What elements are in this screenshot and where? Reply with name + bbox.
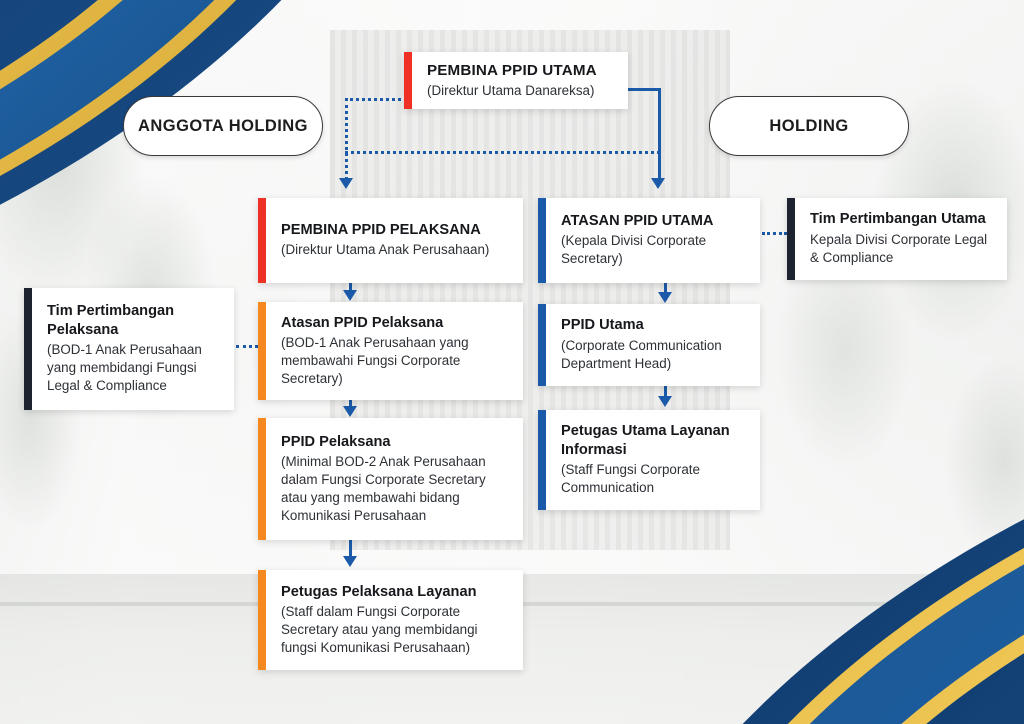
- pill-holding-label: HOLDING: [769, 117, 848, 136]
- arrow-ppid-pel-to-petugas-pel: [343, 556, 357, 567]
- arrow-atasan-utama-to-ppid-utama: [658, 292, 672, 303]
- arrow-right-branch: [651, 178, 665, 189]
- node-subtitle: (BOD-1 Anak Perusahaan yang membawahi Fu…: [281, 334, 510, 387]
- node-title: Atasan PPID Pelaksana: [281, 314, 510, 332]
- node-title: ATASAN PPID UTAMA: [561, 212, 747, 230]
- node-subtitle: (Staff Fungsi Corporate Communication: [561, 461, 747, 497]
- accent-bar-orange: [258, 302, 266, 400]
- node-title: Petugas Pelaksana Layanan: [281, 583, 510, 601]
- accent-bar-dark: [24, 288, 32, 410]
- connector-dotted-left-down: [345, 98, 348, 180]
- diagram-canvas: ANGGOTA HOLDING HOLDING PEMBINA PPID UTA…: [0, 0, 1024, 724]
- node-subtitle: (Kepala Divisi Corporate Secretary): [561, 232, 747, 268]
- node-tim-pertimbangan-pelaksana[interactable]: Tim Pertimbangan Pelaksana (BOD-1 Anak P…: [24, 288, 234, 410]
- accent-bar-orange: [258, 570, 266, 670]
- node-subtitle: (Minimal BOD-2 Anak Perusahaan dalam Fun…: [281, 453, 510, 524]
- node-petugas-pelaksana-layanan[interactable]: Petugas Pelaksana Layanan (Staff dalam F…: [258, 570, 523, 670]
- accent-bar-orange: [258, 418, 266, 540]
- accent-bar-red: [404, 52, 412, 109]
- arrow-pembina-to-atasan-pel: [343, 290, 357, 301]
- node-subtitle: (BOD-1 Anak Perusahaan yang membidangi F…: [47, 341, 221, 394]
- node-title: PPID Utama: [561, 316, 747, 334]
- pill-anggota-holding-label: ANGGOTA HOLDING: [138, 117, 308, 136]
- background-trees-left: [0, 0, 260, 560]
- arrow-atasan-to-ppid-pel: [343, 406, 357, 417]
- node-subtitle: (Staff dalam Fungsi Corporate Secretary …: [281, 603, 510, 656]
- accent-bar-red: [258, 198, 266, 283]
- arrow-ppid-utama-to-petugas-utama: [658, 396, 672, 407]
- pill-holding[interactable]: HOLDING: [709, 96, 909, 156]
- connector-dotted-bus: [345, 151, 660, 154]
- node-title: Petugas Utama Layanan Informasi: [561, 422, 747, 459]
- connector-right-down: [658, 88, 661, 180]
- node-title: Tim Pertimbangan Utama: [810, 210, 994, 228]
- node-atasan-ppid-utama[interactable]: ATASAN PPID UTAMA (Kepala Divisi Corpora…: [538, 198, 760, 283]
- node-ppid-pelaksana[interactable]: PPID Pelaksana (Minimal BOD-2 Anak Perus…: [258, 418, 523, 540]
- node-ppid-utama[interactable]: PPID Utama (Corporate Communication Depa…: [538, 304, 760, 386]
- node-title: Tim Pertimbangan Pelaksana: [47, 302, 221, 339]
- node-tim-pertimbangan-utama[interactable]: Tim Pertimbangan Utama Kepala Divisi Cor…: [787, 198, 1007, 280]
- node-atasan-ppid-pelaksana[interactable]: Atasan PPID Pelaksana (BOD-1 Anak Perusa…: [258, 302, 523, 400]
- node-subtitle: (Corporate Communication Department Head…: [561, 337, 747, 373]
- node-subtitle: (Direktur Utama Danareksa): [427, 82, 615, 100]
- node-title: PEMBINA PPID PELAKSANA: [281, 221, 510, 239]
- arrow-left-branch: [339, 178, 353, 189]
- node-pembina-ppid-utama[interactable]: PEMBINA PPID UTAMA (Direktur Utama Danar…: [404, 52, 628, 109]
- connector-right-top: [628, 88, 661, 91]
- node-petugas-utama-layanan-informasi[interactable]: Petugas Utama Layanan Informasi (Staff F…: [538, 410, 760, 510]
- node-pembina-ppid-pelaksana[interactable]: PEMBINA PPID PELAKSANA (Direktur Utama A…: [258, 198, 523, 283]
- accent-bar-dark: [787, 198, 795, 280]
- connector-dotted-tim-utama: [762, 232, 787, 235]
- pill-anggota-holding[interactable]: ANGGOTA HOLDING: [123, 96, 323, 156]
- node-title: PEMBINA PPID UTAMA: [427, 61, 615, 80]
- accent-bar-blue: [538, 198, 546, 283]
- node-subtitle: (Direktur Utama Anak Perusahaan): [281, 241, 510, 259]
- node-subtitle: Kepala Divisi Corporate Legal & Complian…: [810, 231, 994, 267]
- node-title: PPID Pelaksana: [281, 433, 510, 451]
- connector-dotted-tim-pelaksana: [236, 345, 258, 348]
- connector-dotted-top-left: [345, 98, 407, 101]
- accent-bar-blue: [538, 304, 546, 386]
- accent-bar-blue: [538, 410, 546, 510]
